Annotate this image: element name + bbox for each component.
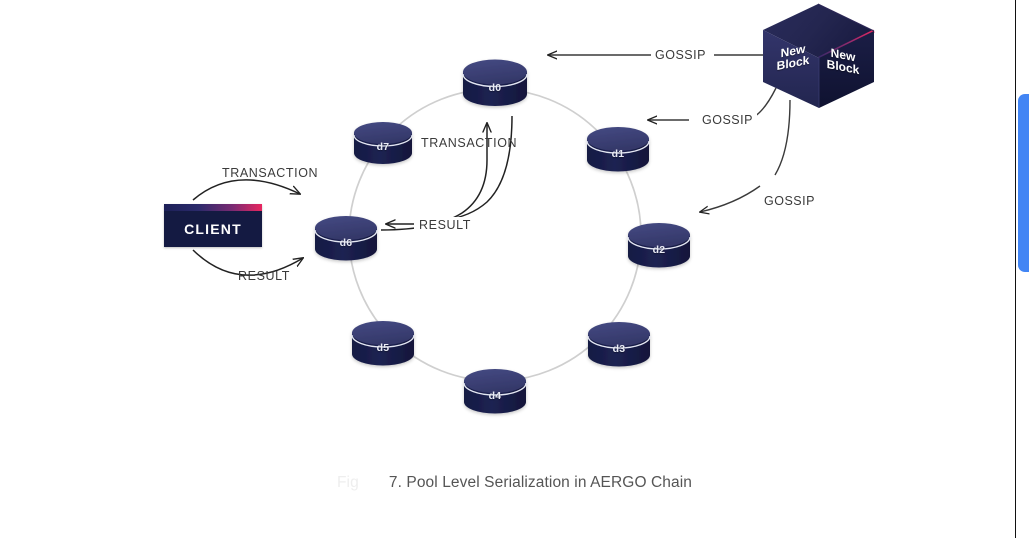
arrow-pool-result-curve [444,116,512,220]
flow-label-gossip-d0: GOSSIP [651,47,710,63]
client-node[interactable]: CLIENT [164,204,262,247]
node-d2[interactable] [628,223,690,268]
diagram-svg [0,0,1029,538]
client-label: CLIENT [164,211,262,247]
node-d0[interactable] [463,60,527,107]
new-block-left-face-label: New Block [770,41,816,74]
flow-label-pool-transaction: TRANSACTION [421,136,517,150]
scrollbar-thumb[interactable] [1018,94,1029,272]
client-accent-bar [164,204,262,211]
flow-label-client-transaction: TRANSACTION [222,166,318,180]
caption-number: 7 [389,474,398,491]
new-block-cube[interactable]: New Block New Block [762,4,874,108]
flow-label-pool-result: RESULT [414,217,476,233]
caption-fig-prefix: Fig [337,474,359,491]
figure-caption: Fig7. Pool Level Serialization in AERGO … [0,474,1029,492]
flow-label-gossip-d1: GOSSIP [698,112,757,128]
figure-canvas: d0 d1 d2 d3 d4 d5 d6 d7 TRANSACTION RESU… [0,0,1029,538]
node-d4[interactable] [464,369,526,414]
arrow-client-transaction [193,180,300,200]
node-d6[interactable] [315,216,377,261]
node-d3[interactable] [588,322,650,367]
flow-label-gossip-d2: GOSSIP [760,193,819,209]
node-d7[interactable] [354,122,412,164]
caption-text: . Pool Level Serialization in AERGO Chai… [398,474,692,491]
node-d5[interactable] [352,321,414,366]
node-d1[interactable] [587,127,649,172]
scrollbar-track[interactable] [1015,0,1029,538]
flow-label-client-result: RESULT [238,269,290,283]
new-block-right-face-label: New Block [820,45,866,78]
